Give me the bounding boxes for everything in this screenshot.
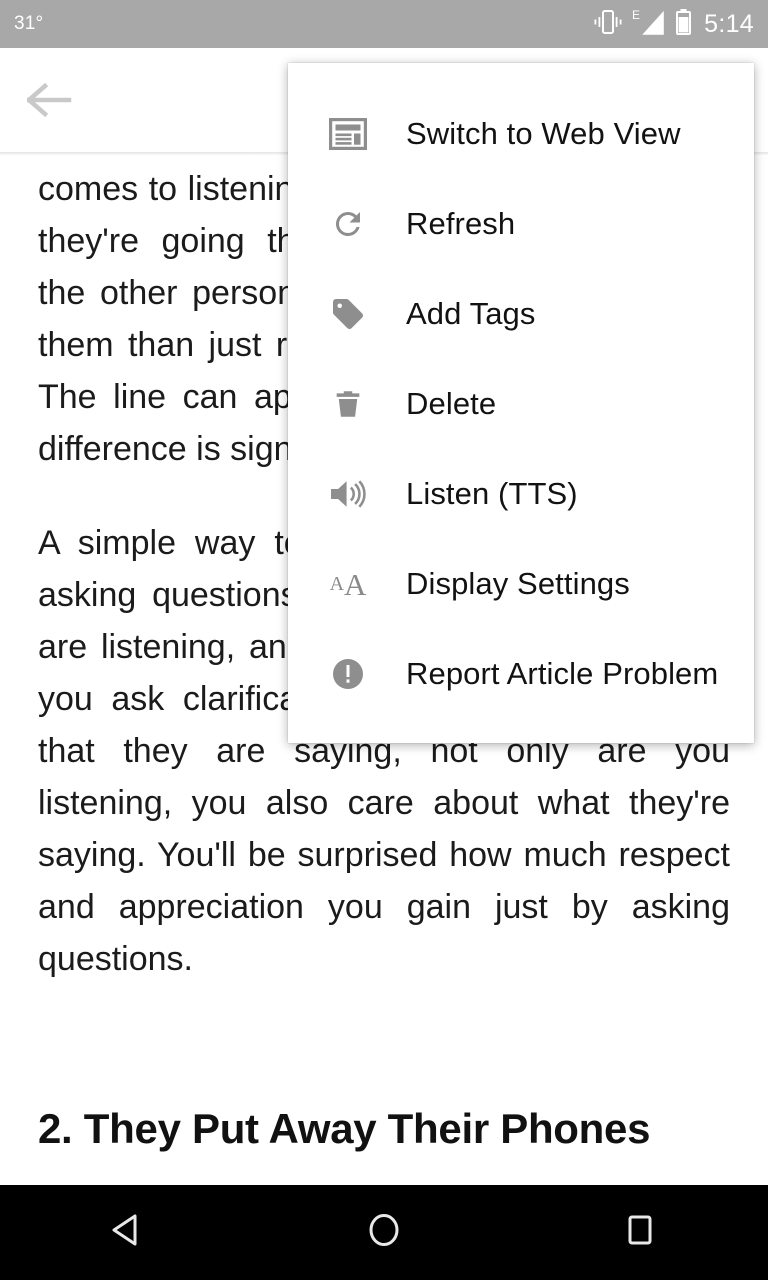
circle-home-icon xyxy=(362,1208,406,1257)
square-recents-icon xyxy=(618,1208,662,1257)
menu-item-label: Refresh xyxy=(406,206,515,242)
menu-item-refresh[interactable]: Refresh xyxy=(288,179,754,269)
arrow-left-icon xyxy=(27,82,73,123)
trash-icon xyxy=(326,382,370,426)
vibrate-icon xyxy=(593,9,623,40)
android-navigation-bar xyxy=(0,1185,768,1280)
status-bar-clock: 5:14 xyxy=(704,10,754,39)
menu-item-label: Report Article Problem xyxy=(406,656,718,692)
article-section-heading: 2. They Put Away Their Phones xyxy=(38,1095,730,1163)
text-size-icon: AA xyxy=(326,562,370,606)
menu-item-label: Switch to Web View xyxy=(406,116,681,152)
triangle-back-icon xyxy=(106,1208,150,1257)
menu-item-display-settings[interactable]: AA Display Settings xyxy=(288,539,754,629)
menu-item-label: Listen (TTS) xyxy=(406,476,578,512)
status-bar-left: 31° xyxy=(14,13,43,35)
menu-item-switch-to-web-view[interactable]: Switch to Web View xyxy=(288,89,754,179)
overflow-menu: Switch to Web View Refresh Add Tags xyxy=(288,63,754,743)
status-bar-right: E 5:14 xyxy=(593,8,754,41)
refresh-icon xyxy=(326,202,370,246)
menu-item-label: Delete xyxy=(406,386,496,422)
menu-item-report-article-problem[interactable]: Report Article Problem xyxy=(288,629,754,719)
signal-icon: E xyxy=(632,8,666,41)
tag-icon xyxy=(326,292,370,336)
menu-item-label: Add Tags xyxy=(406,296,536,332)
temperature-indicator: 31° xyxy=(14,13,43,35)
menu-item-listen-tts[interactable]: Listen (TTS) xyxy=(288,449,754,539)
menu-item-add-tags[interactable]: Add Tags xyxy=(288,269,754,359)
nav-home-button[interactable] xyxy=(324,1185,444,1280)
speaker-icon xyxy=(326,472,370,516)
toolbar-back-button[interactable] xyxy=(26,78,74,126)
alert-circle-icon xyxy=(326,652,370,696)
menu-item-delete[interactable]: Delete xyxy=(288,359,754,449)
svg-text:E: E xyxy=(632,8,640,22)
web-view-icon xyxy=(326,112,370,156)
nav-back-button[interactable] xyxy=(68,1185,188,1280)
status-bar: 31° E xyxy=(0,0,768,48)
battery-icon xyxy=(675,8,692,41)
phone-screen: 31° E xyxy=(0,0,768,1280)
menu-item-label: Display Settings xyxy=(406,566,630,602)
nav-recents-button[interactable] xyxy=(580,1185,700,1280)
